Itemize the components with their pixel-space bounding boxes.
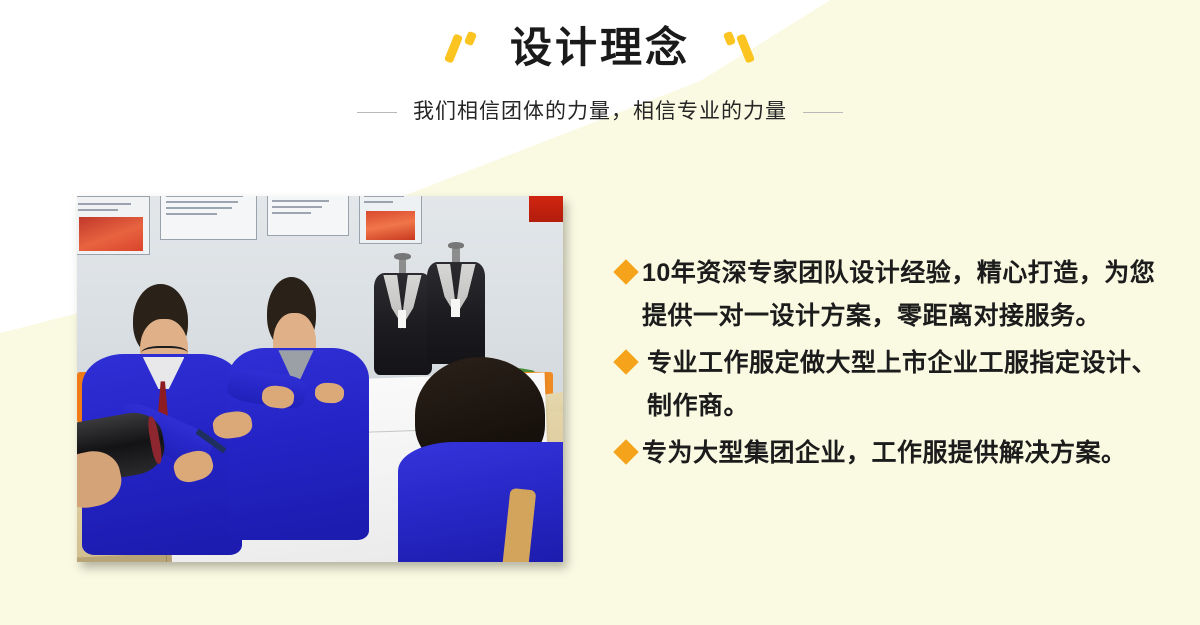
wall-poster — [267, 196, 350, 236]
subtitle-dash-left-icon — [357, 112, 397, 113]
page-title: 设计理念 — [510, 22, 690, 74]
feature-text: 专业工作服定做大型上市企业工服指定设计、制作商。 — [647, 342, 1165, 428]
page-subtitle: 我们相信团体的力量，相信专业的力量 — [413, 97, 787, 127]
worker-center — [228, 277, 369, 541]
red-wall-sign — [529, 196, 563, 222]
feature-item: 专业工作服定做大型上市企业工服指定设计、制作商。 — [617, 342, 1165, 428]
feature-item: 专为大型集团企业，工作服提供解决方案。 — [617, 432, 1165, 475]
hand — [314, 382, 344, 404]
diamond-bullet-icon — [613, 439, 638, 464]
feature-item: 10年资深专家团队设计经验，精心打造，为您提供一对一设计方案，零距离对接服务。 — [617, 252, 1165, 338]
title-row: 设计理念 — [0, 20, 1200, 76]
worker-foreground — [398, 357, 563, 562]
subtitle-dash-right-icon — [803, 112, 843, 113]
wall-poster — [359, 196, 422, 244]
diamond-bullet-icon — [613, 259, 638, 284]
double-slash-mark-left-icon — [446, 31, 480, 65]
design-concept-banner: 设计理念 我们相信团体的力量，相信专业的力量 — [0, 0, 1200, 625]
wall-poster — [77, 196, 150, 255]
feature-text: 10年资深专家团队设计经验，精心打造，为您提供一对一设计方案，零距离对接服务。 — [642, 252, 1165, 338]
suit-mannequin — [424, 247, 487, 364]
wall-poster — [160, 196, 257, 240]
photo-scene — [77, 196, 563, 562]
subtitle-row: 我们相信团体的力量，相信专业的力量 — [0, 96, 1200, 128]
team-photo — [77, 196, 563, 562]
diamond-bullet-icon — [613, 349, 638, 374]
feature-text: 专为大型集团企业，工作服提供解决方案。 — [642, 432, 1127, 475]
feature-list: 10年资深专家团队设计经验，精心打造，为您提供一对一设计方案，零距离对接服务。 … — [617, 252, 1165, 479]
double-slash-mark-right-icon — [720, 31, 754, 65]
